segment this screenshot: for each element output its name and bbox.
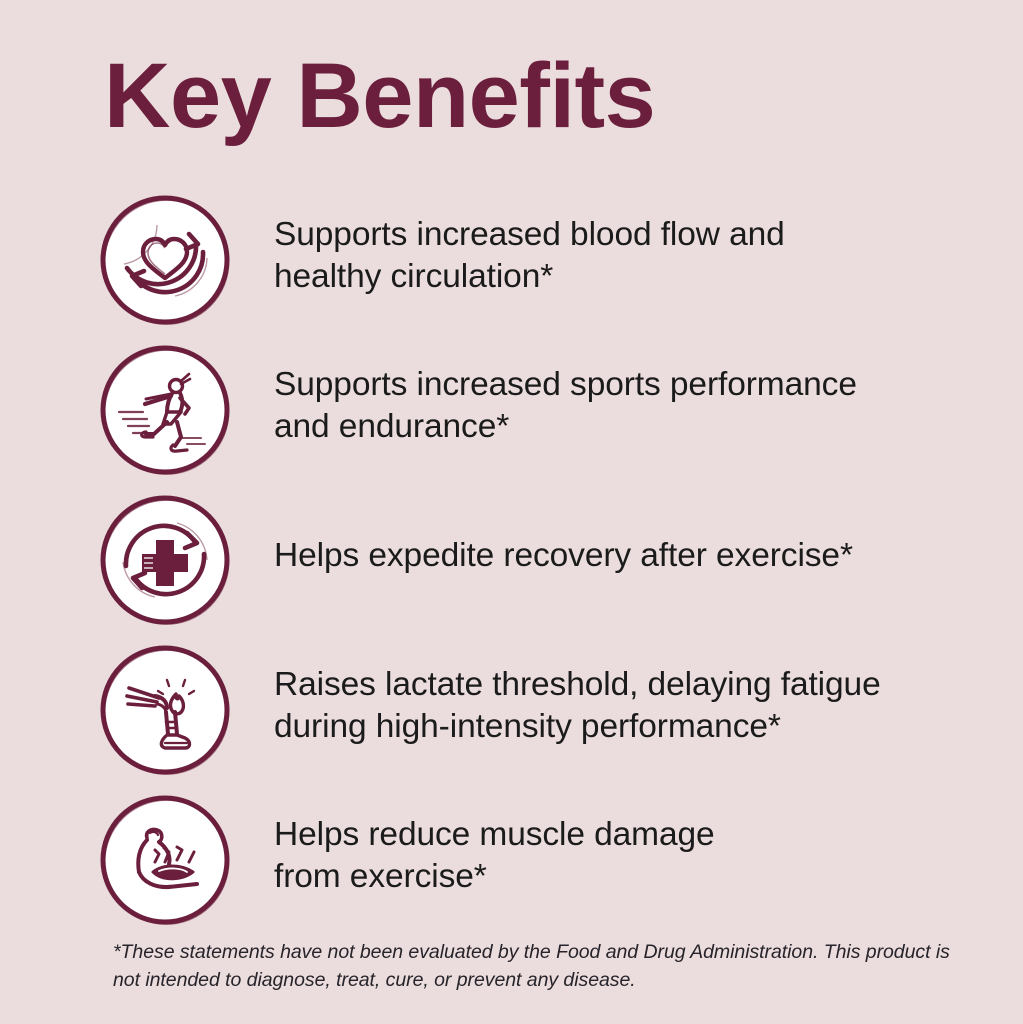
page-title: Key Benefits <box>104 48 655 144</box>
list-item: Supports increased sports performance an… <box>0 336 1023 486</box>
benefits-list: Supports increased blood flow and health… <box>0 186 1023 936</box>
key-benefits-graphic: Key Benefits <box>0 0 1023 1024</box>
medical-cross-recovery-arrows-icon <box>97 492 233 628</box>
heart-circulation-arrows-icon <box>97 192 233 328</box>
list-item-label-line: Supports increased blood flow and <box>274 214 974 256</box>
list-item-label-line: Raises lactate threshold, delaying fatig… <box>274 664 974 706</box>
list-item-label: Supports increased blood flow and health… <box>274 214 974 297</box>
list-item-label-line: Helps expedite recovery after exercise* <box>274 535 974 577</box>
disclaimer-line: *These statements have not been evaluate… <box>113 938 933 966</box>
list-item: Supports increased blood flow and health… <box>0 186 1023 336</box>
list-item: Helps reduce muscle damage from exercise… <box>0 786 1023 936</box>
list-item-label-line: from exercise* <box>274 856 974 898</box>
list-item-label-line: and endurance* <box>274 406 974 448</box>
list-item-label: Supports increased sports performance an… <box>274 364 974 447</box>
list-item: Helps expedite recovery after exercise* <box>0 486 1023 636</box>
disclaimer-footnote: *These statements have not been evaluate… <box>113 938 933 994</box>
list-item-label: Raises lactate threshold, delaying fatig… <box>274 664 974 747</box>
list-item-label: Helps expedite recovery after exercise* <box>274 535 974 577</box>
flexed-bicep-muscle-icon <box>97 792 233 928</box>
list-item-label-line: during high-intensity performance* <box>274 706 974 748</box>
disclaimer-line: not intended to diagnose, treat, cure, o… <box>113 966 933 994</box>
running-figure-icon <box>97 342 233 478</box>
list-item-label-line: Supports increased sports performance <box>274 364 974 406</box>
list-item: Raises lactate threshold, delaying fatig… <box>0 636 1023 786</box>
list-item-label-line: healthy circulation* <box>274 256 974 298</box>
list-item-label-line: Helps reduce muscle damage <box>274 814 974 856</box>
burning-leg-fatigue-icon <box>97 642 233 778</box>
list-item-label: Helps reduce muscle damage from exercise… <box>274 814 974 897</box>
